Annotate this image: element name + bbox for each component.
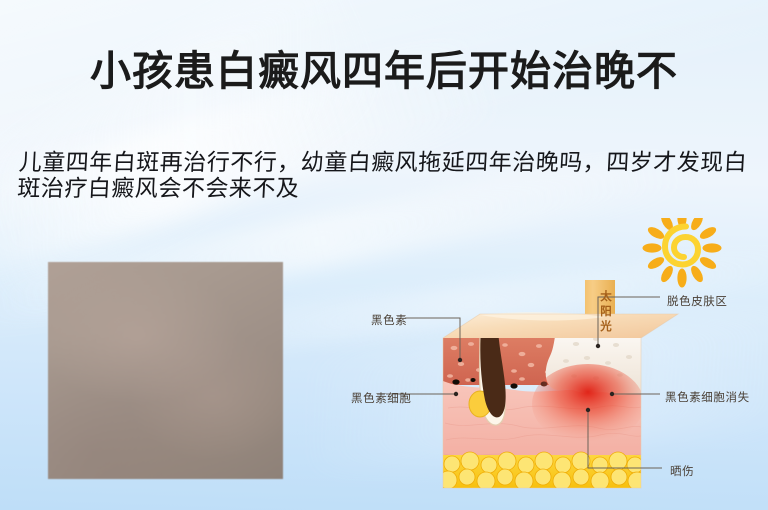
label-sunburn: 晒伤	[670, 463, 694, 479]
label-melanocyte: 黑色素细胞	[351, 390, 412, 406]
page-title: 小孩患白癜风四年后开始治晚不	[0, 46, 768, 96]
label-depigmented-area: 脱色皮肤区	[667, 293, 728, 309]
label-melanin: 黑色素	[371, 312, 407, 328]
sun-icon	[643, 218, 722, 288]
label-sunlight: 太阳光	[597, 290, 615, 335]
skin-cross-section-diagram	[330, 218, 768, 510]
article-body-text: 儿童四年白斑再治行不行，幼童白癜风拖延四年治晚吗，四岁才发现白斑治疗白癜风会不会…	[17, 150, 758, 202]
label-melanocyte-lost: 黑色素细胞消失	[665, 389, 750, 405]
skin-photo	[48, 262, 283, 479]
